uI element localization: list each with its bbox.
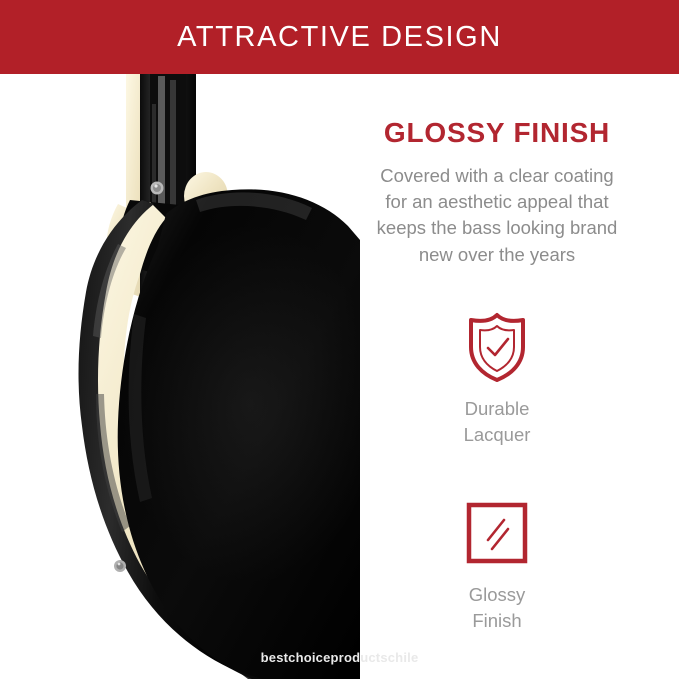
feature-label-line: Durable — [352, 396, 642, 422]
product-photo — [0, 74, 360, 679]
description-line: for an aesthetic appeal that — [352, 189, 642, 215]
feature-label-line: Lacquer — [352, 422, 642, 448]
product-feature-card: ATTRACTIVE DESIGN — [0, 0, 679, 679]
description-line: Covered with a clear coating — [352, 163, 642, 189]
description-text: Covered with a clear coating for an aest… — [352, 163, 642, 268]
feature-glossy-finish: Glossy Finish — [352, 498, 642, 633]
feature-label-line: Finish — [352, 608, 642, 634]
feature-label-line: Glossy — [352, 582, 642, 608]
feature-durable-lacquer: Durable Lacquer — [352, 312, 642, 447]
feature-label: Glossy Finish — [352, 582, 642, 633]
header-banner: ATTRACTIVE DESIGN — [0, 0, 679, 74]
description-line: keeps the bass looking brand — [352, 215, 642, 241]
description-line: new over the years — [352, 242, 642, 268]
watermark: bestchoiceproductschile — [0, 650, 679, 665]
feature-text-block: GLOSSY FINISH Covered with a clear coati… — [352, 118, 642, 268]
page-title: GLOSSY FINISH — [352, 118, 642, 149]
banner-title: ATTRACTIVE DESIGN — [177, 21, 502, 54]
glossy-square-shine-icon — [352, 498, 642, 568]
shield-check-icon — [352, 312, 642, 382]
feature-label: Durable Lacquer — [352, 396, 642, 447]
